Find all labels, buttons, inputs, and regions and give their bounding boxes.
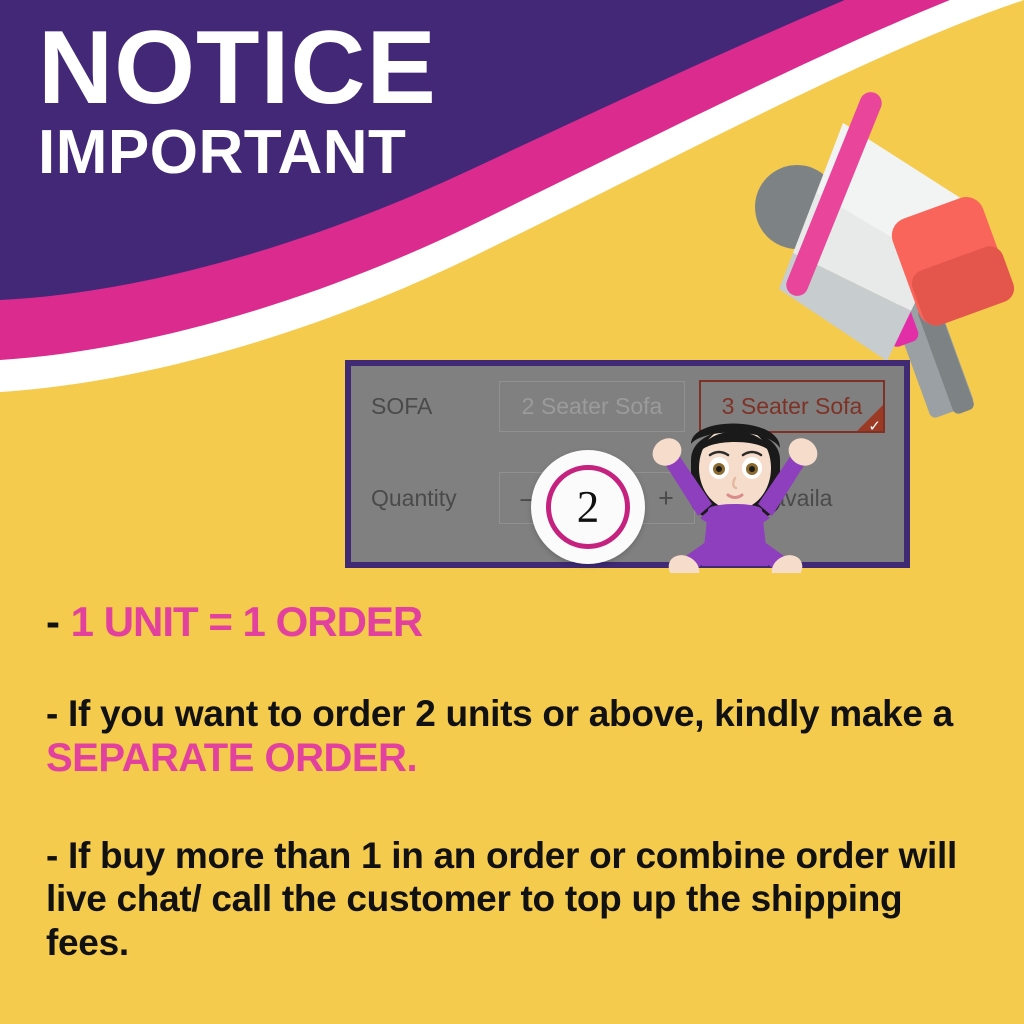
notice-poster: NOTICE IMPORTANT SOFA 2 Seater Sofa 3 Se… [0, 0, 1024, 1024]
notice-copy: - 1 UNIT = 1 ORDER - If you want to orde… [46, 600, 976, 964]
headline-dash: - [46, 598, 60, 645]
highlight-quantity-value: 2 [577, 485, 600, 530]
paragraph-3-text: - If buy more than 1 in an order or comb… [46, 835, 957, 963]
headline-unit-order: - 1 UNIT = 1 ORDER [46, 600, 976, 644]
paragraph-2-emphasis: SEPARATE ORDER. [46, 736, 417, 780]
check-icon: ✓ [868, 419, 881, 433]
woman-gesturing-no-emoji [648, 398, 823, 573]
page-subtitle: IMPORTANT [38, 120, 437, 185]
paragraph-2-text: - If you want to order 2 units or above,… [46, 693, 953, 734]
headline-text: 1 UNIT = 1 ORDER [71, 598, 423, 645]
paragraph-shipping-fees: - If buy more than 1 in an order or comb… [46, 834, 976, 964]
quantity-label: Quantity [371, 485, 499, 512]
highlight-ring: 2 [546, 465, 630, 549]
quantity-highlight-badge: 2 [531, 450, 645, 564]
page-title: NOTICE [38, 18, 437, 120]
header-title-block: NOTICE IMPORTANT [38, 18, 437, 185]
sofa-option-row: SOFA 2 Seater Sofa 3 Seater Sofa ✓ [371, 380, 904, 433]
paragraph-separate-order: - If you want to order 2 units or above,… [46, 692, 976, 782]
sofa-label: SOFA [371, 393, 499, 420]
